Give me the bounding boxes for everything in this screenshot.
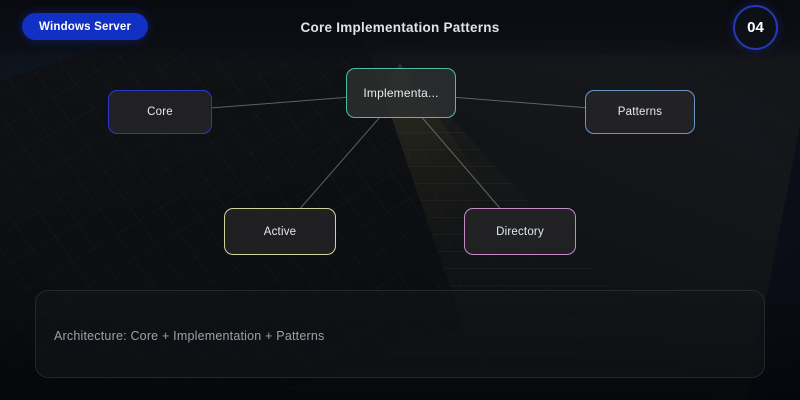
diagram-node[interactable]: Directory bbox=[464, 208, 576, 255]
diagram-node-label: Implementa... bbox=[363, 86, 438, 100]
diagram-node-label: Directory bbox=[496, 226, 544, 238]
page-number-badge: 04 bbox=[733, 5, 778, 50]
slide-header: Windows Server Core Implementation Patte… bbox=[0, 0, 800, 55]
caption-text: Architecture: Core + Implementation + Pa… bbox=[54, 329, 324, 343]
diagram-node-label: Patterns bbox=[618, 106, 662, 118]
diagram-node-center[interactable]: Implementa... bbox=[346, 68, 456, 118]
diagram-node[interactable]: Patterns bbox=[585, 90, 695, 134]
slide: Windows Server Core Implementation Patte… bbox=[0, 0, 800, 400]
diagram-node-label: Core bbox=[147, 106, 173, 118]
caption-panel: Architecture: Core + Implementation + Pa… bbox=[35, 290, 765, 378]
diagram-node[interactable]: Core bbox=[108, 90, 212, 134]
page-title: Core Implementation Patterns bbox=[0, 20, 800, 35]
diagram-node-label: Active bbox=[264, 226, 297, 238]
diagram-node[interactable]: Active bbox=[224, 208, 336, 255]
